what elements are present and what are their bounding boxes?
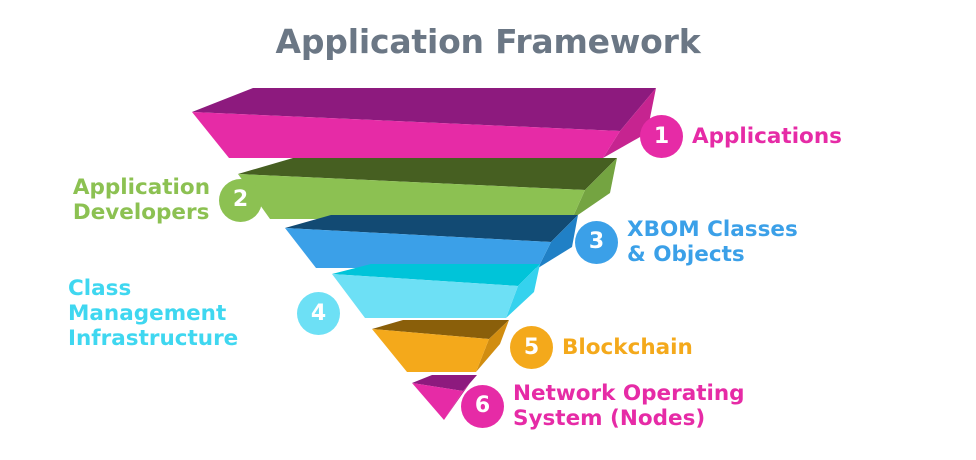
funnel-label-3-text: XBOM Classes & Objects bbox=[627, 217, 798, 267]
funnel-badge-4: 4 bbox=[297, 292, 340, 335]
funnel-layer-5[interactable] bbox=[372, 320, 509, 372]
funnel-badge-2: 2 bbox=[219, 179, 262, 222]
funnel-label-4-text: Class Management Infrastructure bbox=[68, 276, 288, 351]
funnel-badge-5: 5 bbox=[510, 326, 553, 369]
funnel-label-3[interactable]: 3 XBOM Classes & Objects bbox=[575, 217, 798, 267]
funnel-label-2[interactable]: Application Developers 2 bbox=[70, 175, 262, 225]
funnel-badge-6: 6 bbox=[461, 385, 504, 428]
funnel-label-1[interactable]: 1 Applications bbox=[640, 115, 842, 158]
funnel-label-6[interactable]: 6 Network Operating System (Nodes) bbox=[461, 381, 745, 431]
funnel-layer-1[interactable] bbox=[192, 88, 656, 158]
funnel-label-5-text: Blockchain bbox=[562, 335, 693, 360]
funnel-diagram: Application Framework bbox=[0, 0, 976, 460]
funnel-layer-4[interactable] bbox=[332, 264, 540, 318]
funnel-layer-2[interactable] bbox=[238, 158, 617, 219]
funnel-label-6-text: Network Operating System (Nodes) bbox=[513, 381, 745, 431]
funnel-badge-3: 3 bbox=[575, 221, 618, 264]
funnel-label-5[interactable]: 5 Blockchain bbox=[510, 326, 693, 369]
funnel-badge-1: 1 bbox=[640, 115, 683, 158]
funnel-label-1-text: Applications bbox=[692, 124, 842, 149]
funnel-label-2-text: Application Developers bbox=[73, 175, 210, 225]
funnel-layer-3[interactable] bbox=[285, 215, 578, 268]
funnel-label-4[interactable]: Class Management Infrastructure 4 bbox=[68, 276, 340, 351]
